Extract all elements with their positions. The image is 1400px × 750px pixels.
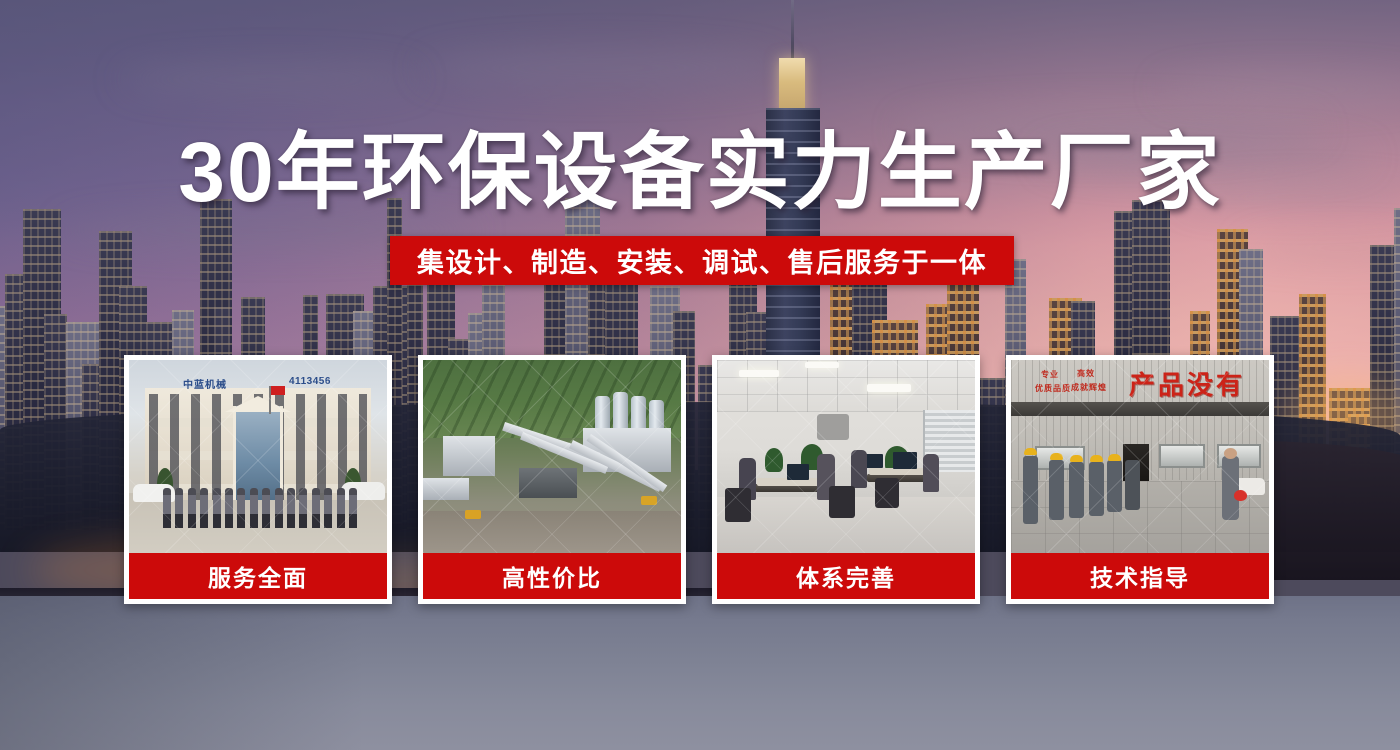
photo-plant-hall	[519, 468, 577, 498]
feature-card-label: 服务全面	[129, 553, 387, 599]
photo-staff-person	[337, 488, 345, 528]
photo-plant-hall	[443, 436, 495, 476]
photo-staff-person	[225, 488, 233, 528]
photo-worker	[1125, 460, 1140, 510]
aerial-plant-photo	[423, 360, 681, 553]
photo-staff-person	[213, 488, 221, 528]
photo-slogan-small: 优质品质	[1035, 384, 1071, 394]
photo-hard-hat	[1090, 455, 1103, 462]
photo-ceiling-light	[867, 384, 911, 392]
feature-card-row: 中蓝机械 4113456 服务全面	[124, 355, 1277, 604]
feature-card[interactable]: 高性价比	[418, 355, 686, 604]
feature-card-label-text: 服务全面	[208, 559, 308, 593]
photo-slogan-small: 成就辉煌	[1071, 383, 1107, 393]
photo-flag	[271, 386, 285, 395]
feature-card-label: 体系完善	[717, 553, 975, 599]
photo-silo	[613, 392, 628, 432]
photo-red-helmet	[1234, 490, 1247, 501]
photo-chair	[725, 488, 751, 522]
photo-staff-person	[275, 488, 283, 528]
photo-ceiling	[717, 360, 975, 412]
subtitle-banner: 集设计、制造、安装、调试、售后服务于一体	[390, 236, 1014, 285]
photo-factory-slogan: 产品没有	[1129, 365, 1245, 402]
photo-staff-person	[188, 488, 196, 528]
feature-card[interactable]: 产品没有 专业 优质品质 高效 成就辉煌	[1006, 355, 1274, 604]
office-interior-photo	[717, 360, 975, 553]
photo-staff-person	[250, 488, 258, 528]
feature-card-label-text: 技术指导	[1090, 559, 1190, 593]
feature-card-label: 技术指导	[1011, 553, 1269, 599]
photo-monitor	[893, 452, 917, 469]
photo-slogan-small: 专业	[1041, 370, 1059, 380]
photo-wall-logo	[817, 414, 849, 440]
photo-worker	[1023, 456, 1038, 524]
photo-staff-person	[312, 488, 320, 528]
river-reflection	[0, 596, 1400, 750]
photo-wall-band	[1011, 402, 1269, 416]
photo-staff-person	[324, 488, 332, 528]
photo-staff-row	[163, 488, 359, 532]
photo-sign-left: 中蓝机械	[183, 376, 227, 391]
feature-card-label: 高性价比	[423, 553, 681, 599]
photo-worker	[1107, 460, 1122, 512]
promo-banner: 30年环保设备实力生产厂家 集设计、制造、安装、调试、售后服务于一体 中蓝机械 …	[0, 0, 1400, 750]
photo-silo	[631, 396, 646, 432]
photo-staff-person	[163, 488, 171, 528]
photo-ceiling-light	[739, 370, 779, 377]
photo-silo	[595, 396, 610, 432]
photo-plant	[765, 448, 783, 472]
photo-instructor	[1222, 456, 1239, 520]
photo-staff-person	[200, 488, 208, 528]
company-headquarters-photo: 中蓝机械 4113456	[129, 360, 387, 553]
photo-monitor	[787, 464, 809, 480]
photo-staff-person	[175, 488, 183, 528]
photo-entrance-glass	[233, 406, 283, 500]
photo-hard-hat	[1108, 454, 1121, 461]
photo-slogan-small: 高效	[1077, 369, 1095, 379]
photo-staff-person	[299, 488, 307, 528]
feature-card[interactable]: 中蓝机械 4113456 服务全面	[124, 355, 392, 604]
photo-window	[1159, 444, 1205, 468]
photo-chair	[875, 478, 899, 508]
photo-instructor-head	[1224, 448, 1237, 459]
feature-card-label-text: 高性价比	[502, 559, 602, 593]
photo-person	[851, 450, 867, 488]
feature-card-label-text: 体系完善	[796, 559, 896, 593]
photo-worker	[1089, 462, 1104, 516]
photo-road	[423, 511, 681, 553]
photo-staff-person	[237, 488, 245, 528]
photo-staff-person	[262, 488, 270, 528]
tower-spire	[791, 0, 794, 62]
photo-ceiling-light	[805, 362, 839, 368]
photo-chair	[829, 486, 855, 518]
photo-hard-hat	[1050, 453, 1063, 460]
photo-staff-person	[349, 488, 357, 528]
photo-excavator	[641, 496, 657, 505]
page-title: 30年环保设备实力生产厂家	[0, 130, 1400, 214]
photo-sign-right: 4113456	[289, 376, 331, 387]
photo-monitor	[865, 454, 883, 468]
technical-training-photo: 产品没有 专业 优质品质 高效 成就辉煌	[1011, 360, 1269, 553]
photo-hard-hat	[1070, 455, 1083, 462]
photo-excavator	[465, 510, 481, 519]
photo-hard-hat	[1024, 448, 1037, 455]
subtitle-text: 集设计、制造、安装、调试、售后服务于一体	[417, 241, 987, 280]
photo-staff-person	[287, 488, 295, 528]
feature-card[interactable]: 体系完善	[712, 355, 980, 604]
photo-worker	[1049, 460, 1064, 520]
photo-plant-hall	[423, 478, 469, 500]
photo-worker	[1069, 462, 1084, 518]
photo-person	[923, 454, 939, 492]
